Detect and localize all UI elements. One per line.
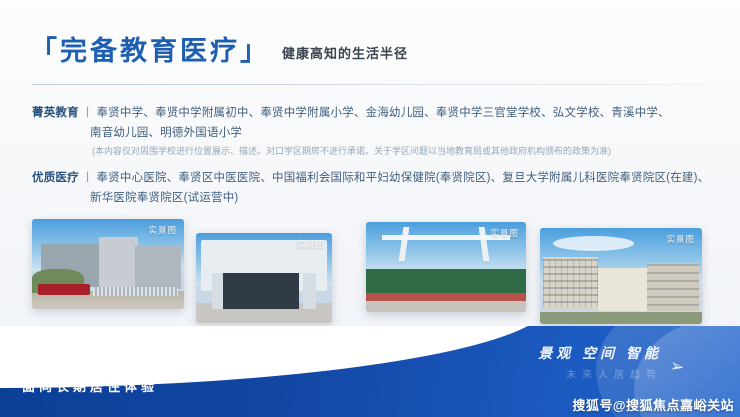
photo-gate-post-right [303,273,315,309]
photo-fence [93,287,178,297]
arrow-icon: ➢ [668,356,685,378]
photo-badge-real-scene: 实景图 [666,233,695,245]
photo-cloud [553,236,634,251]
slide-canvas: 「完备教育医疗」 健康高知的生活半径 菁英教育丨奉贤中学、奉贤中学附属初中、奉贤… [0,0,740,417]
education-list-line-1: 奉贤中学、奉贤中学附属初中、奉贤中学附属小学、金海幼儿园、奉贤中学三官堂学校、弘… [97,107,670,119]
photo-gate-arch [223,273,299,309]
footer-tagline-main: 景观 空间 智能 [538,343,662,363]
education-separator: 丨 [79,107,97,119]
slogan-part-1: 得好 [55,351,97,371]
photo-university-wall[interactable]: 实景图 [366,222,526,312]
photo-building-mid [99,237,139,289]
medical-line-1: 优质医疗丨奉贤中心医院、奉贤区中医医院、中国福利会国际和平妇幼保健院(奉贤院区)… [32,168,712,188]
photo-road [366,301,526,312]
medical-lead: 优质医疗 [32,172,79,184]
footer-slogan: 住 得好 ＞ 卖得好 [22,343,190,373]
slide-header: 「完备教育医疗」 健康高知的生活半径 [30,38,710,86]
education-line-1: 菁英教育丨奉贤中学、奉贤中学附属初中、奉贤中学附属小学、金海幼儿园、奉贤中学三官… [32,103,712,123]
photo-window-grid-left [543,259,598,307]
photo-school-sign [38,284,90,295]
photo-window-grid-right [647,264,699,308]
photo-school-campus[interactable]: 实景图 [32,219,184,309]
footer-tagline-sub: 未来人居趋势 [538,366,662,381]
photo-badge-real-scene: 实景图 [148,224,177,236]
medical-block: 优质医疗丨奉贤中心医院、奉贤区中医医院、中国福利会国际和平妇幼保健院(奉贤院区)… [32,168,712,208]
footer-tagline-group: 景观 空间 智能 未来人居趋势 [538,343,662,381]
content-body: 菁英教育丨奉贤中学、奉贤中学附属初中、奉贤中学附属小学、金海幼儿园、奉贤中学三官… [32,103,712,216]
slogan-part-2: 卖得好 [127,351,190,371]
education-lead: 菁英教育 [32,107,79,119]
photo-badge-real-scene: 实景图 [490,227,519,239]
photo-hospital-complex[interactable]: 实景图 [540,228,702,324]
slogan-greater-than: ＞ [100,349,122,371]
education-line-2: 南音幼儿园、明德外国语小学 [32,123,712,143]
photo-badge-real-scene: 实景图 [296,238,325,250]
photo-strip: 实景图 实景图 实景图 [0,206,740,326]
watermark-text: 搜狐号@搜狐焦点嘉峪关站 [572,395,734,414]
photo-flowerbed [366,293,526,301]
footer-slogan-subtitle: 面向长期居住体验 [22,376,158,395]
page-title: 「完备教育医疗」 [30,38,270,65]
photo-hospital-wing-mid [598,268,647,310]
photo-lawn [540,312,702,324]
page-subtitle: 健康高知的生活半径 [282,43,408,62]
photo-school-gate[interactable]: 实景图 [196,233,332,323]
slogan-main-char: 住 [22,343,53,373]
photo-green-wall [366,269,526,296]
title-row: 「完备教育医疗」 健康高知的生活半径 [30,38,710,65]
medical-separator: 丨 [79,172,97,184]
medical-line-2: 新华医院奉贤院区(试运营中) [32,188,712,208]
education-block: 菁英教育丨奉贤中学、奉贤中学附属初中、奉贤中学附属小学、金海幼儿园、奉贤中学三官… [32,103,712,160]
medical-list-line-1: 奉贤中心医院、奉贤区中医医院、中国福利会国际和平妇幼保健院(奉贤院区)、复旦大学… [97,172,710,184]
photo-building-right [135,246,181,289]
education-disclaimer: (本内容仅对周围学校进行位置展示、描述。对口学区期房不进行承诺。关于学区问题以当… [32,143,712,160]
title-divider [32,84,708,85]
